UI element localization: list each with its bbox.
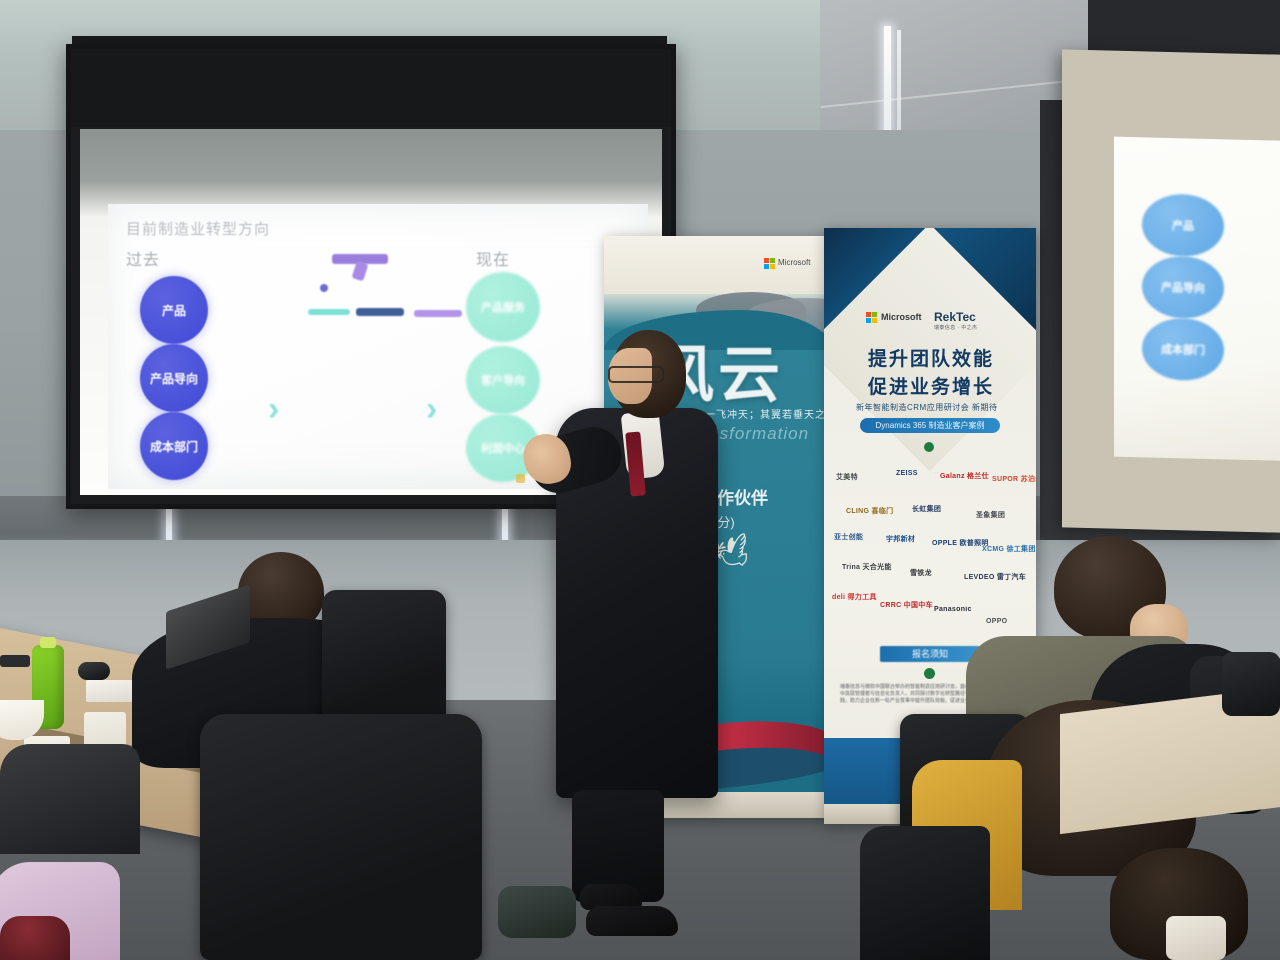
client-logo-4: SUPOR 苏泊尔 bbox=[992, 474, 1036, 484]
audience-foreground-left bbox=[0, 744, 140, 854]
slide-label-present: 现在 bbox=[476, 246, 510, 270]
client-logo-6: 长虹集团 bbox=[912, 504, 941, 514]
slide-bubble-now-1: 产品服务 bbox=[466, 272, 540, 342]
banner-right-subhead: 新年智能制造CRM应用研讨会 新期待 bbox=[856, 402, 997, 413]
banner-right-headline-2: 促进业务增长 bbox=[868, 372, 994, 399]
microsoft-logo: Microsoft bbox=[866, 312, 928, 324]
slide-graphic-bar-3 bbox=[356, 308, 404, 316]
client-logo-14: LEVDEO 雷丁汽车 bbox=[964, 572, 1026, 582]
audience-red-item bbox=[0, 916, 70, 960]
slide-graphic-bar-4 bbox=[414, 310, 462, 317]
office-chair-1[interactable] bbox=[322, 590, 446, 726]
secondary-projection-screen[interactable]: 产品 产品导向 成本部门 bbox=[1062, 49, 1280, 532]
secondary-bubble-2: 产品导向 bbox=[1142, 255, 1224, 319]
client-logo-10: OPPLE 欧普照明 bbox=[932, 538, 989, 548]
client-logo-12: Trina 天合光能 bbox=[842, 562, 892, 572]
bag-on-table bbox=[1222, 652, 1280, 716]
slide-bubble-past-1: 产品 bbox=[140, 276, 208, 344]
banner-qr-dot-icon bbox=[924, 668, 935, 679]
client-logo-13: 雪铁龙 bbox=[910, 568, 932, 578]
microsoft-logo: Microsoft bbox=[764, 258, 818, 270]
bottle-cap[interactable] bbox=[40, 637, 56, 648]
presenter-shoe-right bbox=[586, 906, 678, 936]
client-logo-7: 圣象集团 bbox=[976, 510, 1005, 520]
client-logo-15: deli 得力工具 bbox=[832, 592, 877, 602]
slide-graphic-dot bbox=[320, 284, 328, 292]
audience-white-collar bbox=[1166, 916, 1226, 960]
rektec-logo-text: RekTec bbox=[934, 310, 976, 324]
client-logo-9: 宇邦新材 bbox=[886, 534, 915, 544]
slide-arrow-1: › bbox=[268, 390, 279, 429]
ceiling-light-strip bbox=[884, 26, 891, 144]
slide-arrow-2: › bbox=[426, 390, 437, 429]
microsoft-logo-text: Microsoft bbox=[881, 312, 922, 322]
office-chair-4[interactable] bbox=[860, 826, 990, 960]
rektec-logo-subtext: 瑞泰信息 · 中之杰 bbox=[934, 324, 977, 331]
computer-mouse[interactable] bbox=[78, 662, 110, 680]
client-logo-8: 亚士创能 bbox=[834, 532, 863, 542]
secondary-bubble-3: 成本部门 bbox=[1142, 317, 1224, 381]
slide-bubble-past-2: 产品导向 bbox=[140, 344, 208, 412]
client-logo-3: Galanz 格兰仕 bbox=[940, 471, 989, 481]
client-logo-11: XCMG 徐工集团 bbox=[982, 544, 1036, 554]
banner-right-pill: Dynamics 365 制造业客户案例 bbox=[860, 418, 1000, 433]
conference-room-photo: 目前制造业转型方向 过去 现在 产品 产品导向 成本部门 › › 产品服务 bbox=[0, 0, 1280, 960]
slide-graphic-bar-2 bbox=[308, 309, 350, 315]
slide-bubble-now-2: 客户导向 bbox=[466, 346, 540, 414]
cable-accessory bbox=[0, 655, 30, 667]
slide-title: 目前制造业转型方向 bbox=[126, 218, 270, 239]
office-chair-2[interactable] bbox=[200, 714, 482, 960]
slide-corner-mark bbox=[516, 474, 525, 483]
client-logo-2: ZEISS bbox=[896, 470, 918, 477]
ceiling-light-strip-secondary bbox=[897, 30, 901, 142]
banner-right-headline-1: 提升团队效能 bbox=[868, 344, 994, 371]
client-logo-16: CRRC 中国中车 bbox=[880, 600, 933, 610]
microsoft-logo-text: Microsoft bbox=[778, 258, 810, 267]
client-logo-18: OPPO bbox=[986, 618, 1007, 625]
secondary-screen-surface: 产品 产品导向 成本部门 bbox=[1114, 137, 1280, 461]
chair-armrest[interactable] bbox=[498, 886, 576, 938]
slide-bubble-past-3: 成本部门 bbox=[140, 412, 208, 480]
slide-label-past: 过去 bbox=[126, 246, 160, 270]
client-logo-5: CLING 喜临门 bbox=[846, 506, 893, 516]
client-logo-17: Panasonic bbox=[934, 606, 972, 613]
secondary-bubble-1: 产品 bbox=[1142, 193, 1224, 257]
client-logo-1: 艾美特 bbox=[836, 472, 858, 482]
glasses-icon bbox=[608, 366, 664, 383]
screen-housing bbox=[71, 49, 671, 127]
banner-right-section-bar: 报名须知 bbox=[880, 646, 980, 662]
wechat-badge-icon bbox=[924, 442, 934, 452]
